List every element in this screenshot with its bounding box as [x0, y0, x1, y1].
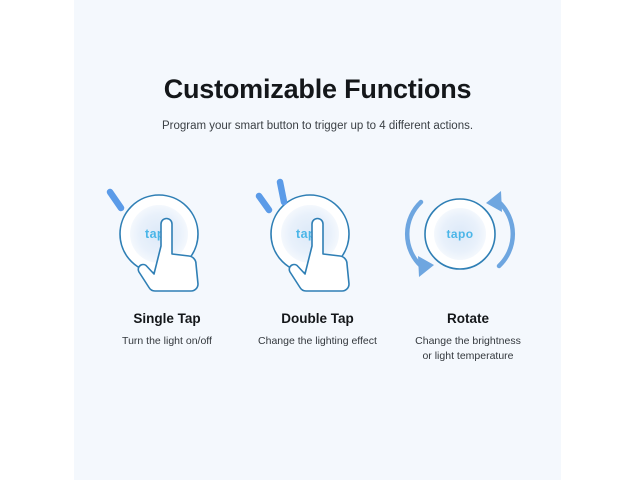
feature-title: Rotate	[447, 310, 489, 328]
feature-item-single-tap: tapo Single Tap Turn the light on/off	[92, 176, 242, 349]
feature-description-line1: Turn the light on/off	[122, 335, 212, 347]
header: Customizable Functions Program your smar…	[74, 72, 561, 134]
feature-item-double-tap: tapo Double Tap Change the lighting effe…	[243, 176, 393, 349]
feature-description: Change the lighting effect	[258, 334, 377, 349]
tapo-button-single-tap-icon: tapo	[97, 176, 237, 301]
svg-text:tapo: tapo	[447, 227, 474, 241]
feature-list: tapo Single Tap Turn the light on/off	[74, 176, 561, 364]
feature-description-line1: Change the lighting effect	[258, 335, 377, 347]
feature-description-line2: or light temperature	[415, 349, 521, 364]
tapo-button-double-tap-icon: tapo	[248, 176, 388, 301]
tapo-button-rotate-icon: tapo	[398, 176, 538, 301]
feature-description-line1: Change the brightness	[415, 335, 521, 347]
feature-title: Double Tap	[281, 310, 354, 328]
page-title: Customizable Functions	[74, 72, 561, 106]
page-subtitle: Program your smart button to trigger up …	[74, 118, 561, 134]
content-panel: Customizable Functions Program your smar…	[74, 0, 561, 480]
feature-description: Change the brightness or light temperatu…	[415, 334, 521, 364]
feature-description: Turn the light on/off	[122, 334, 212, 349]
feature-title: Single Tap	[133, 310, 200, 328]
promo-graphic: Customizable Functions Program your smar…	[0, 0, 640, 480]
feature-item-rotate: tapo Rotate Change the brightness or lig…	[393, 176, 543, 364]
